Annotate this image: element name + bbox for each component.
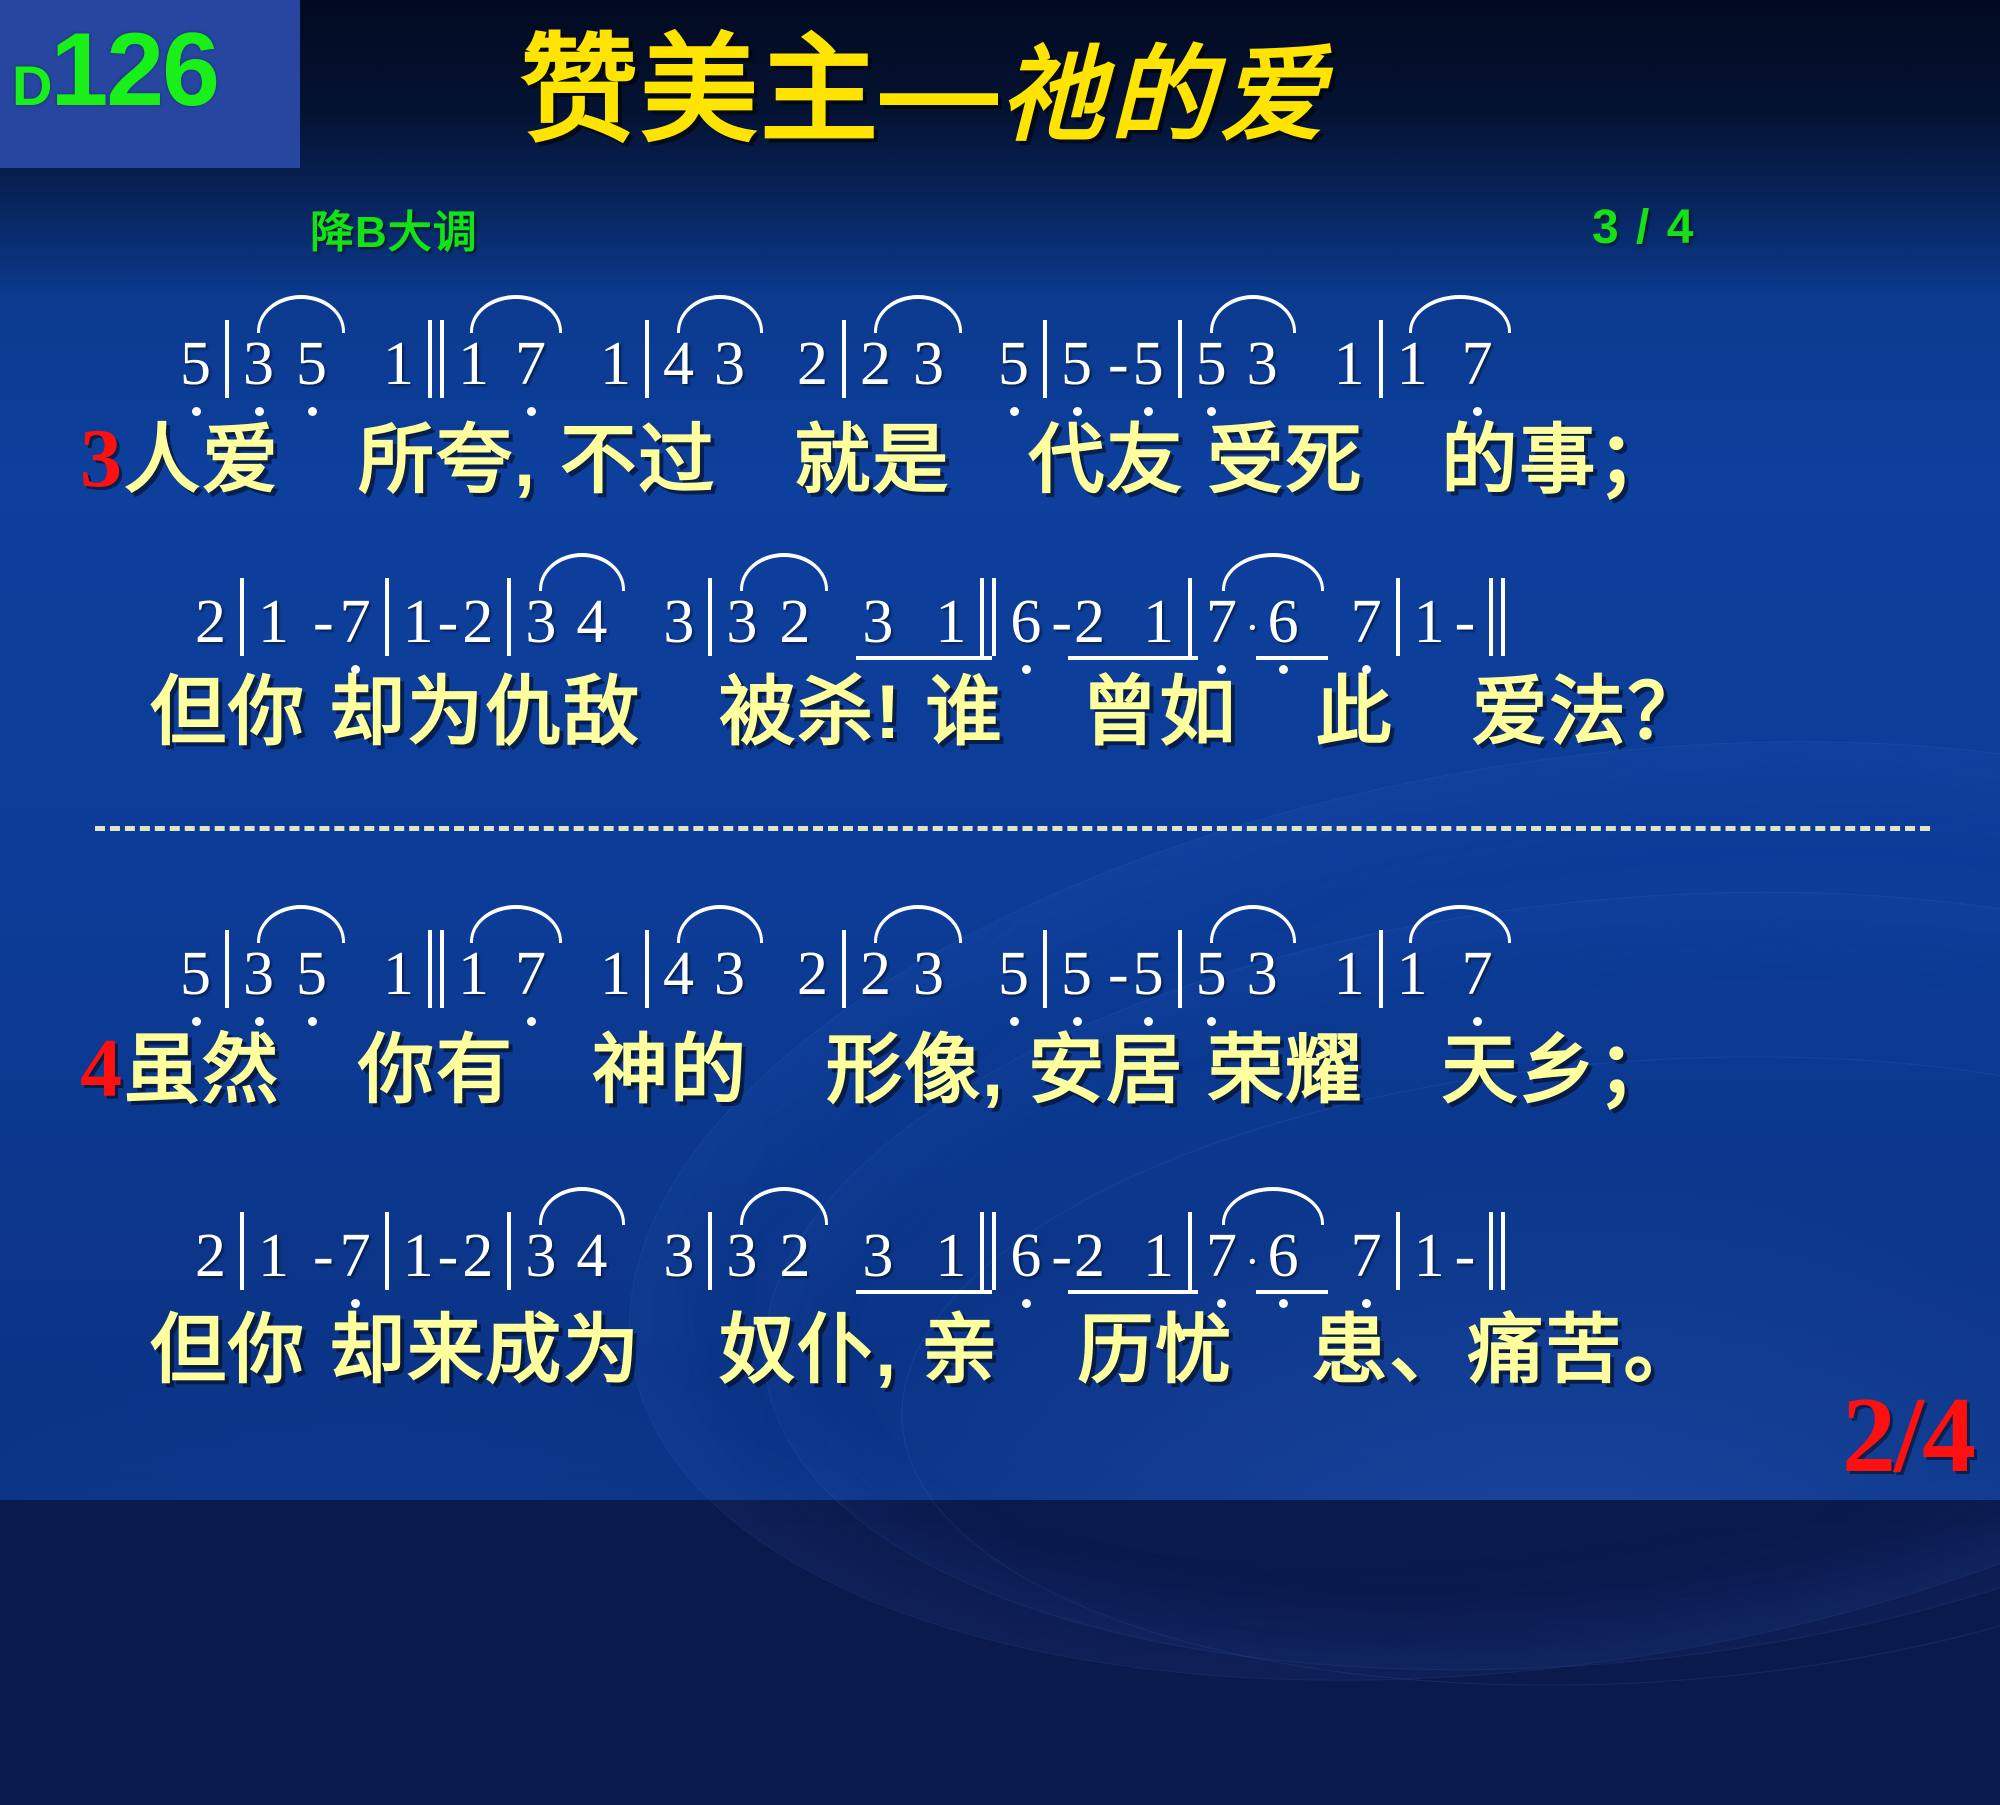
- note: 2: [797, 939, 828, 1010]
- note: 2: [797, 329, 828, 400]
- lyric-verse-4-line-1: 4虽然 你有 神的 形像, 安居 荣耀 天乡；: [80, 1008, 2000, 1118]
- note: 1: [1334, 329, 1365, 400]
- barline: [385, 1212, 389, 1290]
- hymn-number-badge: D126: [0, 0, 300, 168]
- note: 2: [462, 1221, 493, 1292]
- barline: [1188, 1212, 1192, 1290]
- note-beamed: 3: [862, 587, 893, 658]
- note: 3: [913, 329, 944, 400]
- lyric-verse-3-line-1: 3人爱 所夸, 不过 就是 代友 受死 的事；: [80, 398, 2000, 508]
- note: 3: [714, 939, 745, 1010]
- note: 3: [714, 329, 745, 400]
- hymn-number-text: D126: [12, 18, 218, 122]
- barline-double: [992, 1212, 996, 1290]
- barline-double: [440, 930, 444, 1008]
- staff-line-v3-a: 5 3 5 1 1 7 1 4 3 2 2 3 5 5 - 5 5 3 1: [0, 290, 2000, 400]
- barline: [1396, 578, 1400, 656]
- note: 1: [600, 939, 631, 1010]
- note-beamed: 1: [1143, 1221, 1174, 1292]
- note: 1: [258, 1221, 289, 1292]
- verse-number: 3: [80, 412, 124, 505]
- note: 1: [458, 329, 489, 400]
- lyric-verse-3-line-2: 但你 却为仇敌 被杀! 谁 曾如 此 爱法？: [150, 650, 2000, 760]
- note: 3: [243, 939, 274, 1010]
- note: 4: [576, 587, 607, 658]
- note-beamed: 1: [1143, 587, 1174, 658]
- note: 2: [462, 587, 493, 658]
- note: 1: [1397, 939, 1428, 1010]
- staff-line-v4-b: 2 1 - 7 1 - 2 3 4 3 3 2 3 1 6 - 2 1 7: [0, 1182, 2000, 1292]
- barline-double: [428, 930, 432, 1008]
- barline: [842, 320, 846, 398]
- note: 7: [1351, 1221, 1382, 1292]
- note: 6: [1010, 1221, 1041, 1292]
- note: 5: [998, 939, 1029, 1010]
- note: 3: [1247, 329, 1278, 400]
- barline: [240, 578, 244, 656]
- note: 6: [1010, 587, 1041, 658]
- barline: [1379, 930, 1383, 1008]
- note: 5: [296, 939, 327, 1010]
- note: 3: [663, 1221, 694, 1292]
- verse-number: 4: [80, 1022, 124, 1115]
- note-beamed: 1: [935, 587, 966, 658]
- note: 7: [340, 1221, 371, 1292]
- note: 2: [860, 939, 891, 1010]
- barline-final: [1501, 1212, 1505, 1290]
- barline-double: [440, 320, 444, 398]
- note: 2: [195, 1221, 226, 1292]
- key-signature-label: 降B大调: [310, 196, 478, 260]
- note: 7: [1462, 329, 1493, 400]
- staff-line-v3-b: 2 1 - 7 1 - 2 3 4 3 3 2 3 1 6 - 2 1 7: [0, 548, 2000, 658]
- note: 7: [515, 939, 546, 1010]
- note-beamed: 1: [935, 1221, 966, 1292]
- lyric-text: 虽然 你有 神的 形像, 安居 荣耀 天乡；: [124, 1028, 1675, 1113]
- note: 1: [1414, 587, 1445, 658]
- note-dash: -: [1108, 329, 1129, 400]
- barline: [385, 578, 389, 656]
- note-beamed: 3: [862, 1221, 893, 1292]
- note: 3: [525, 1221, 556, 1292]
- barline: [708, 578, 712, 656]
- note-dash: -: [313, 1221, 334, 1292]
- note: 3: [525, 587, 556, 658]
- note-dash: -: [1455, 1221, 1476, 1292]
- barline-final: [1501, 578, 1505, 656]
- note: 5: [998, 329, 1029, 400]
- note: 5: [1133, 939, 1164, 1010]
- note: 7: [515, 329, 546, 400]
- note: 2: [860, 329, 891, 400]
- note: 5: [180, 939, 211, 1010]
- note: 3: [913, 939, 944, 1010]
- note-beamed: 6: [1268, 1221, 1299, 1292]
- barline: [1396, 1212, 1400, 1290]
- note: 4: [663, 329, 694, 400]
- note: 5: [1061, 329, 1092, 400]
- note-dash: -: [438, 1221, 459, 1292]
- note-dash: -: [1051, 587, 1072, 658]
- barline: [1178, 320, 1182, 398]
- note: 1: [1414, 1221, 1445, 1292]
- note: 1: [458, 939, 489, 1010]
- barline: [225, 930, 229, 1008]
- note: 1: [383, 329, 414, 400]
- note: 1: [403, 1221, 434, 1292]
- note: 5: [1133, 329, 1164, 400]
- barline: [645, 320, 649, 398]
- note: 1: [403, 587, 434, 658]
- note-dash: -: [1455, 587, 1476, 658]
- note: 2: [195, 587, 226, 658]
- note: 4: [663, 939, 694, 1010]
- barline: [1188, 578, 1192, 656]
- note-dash: -: [1108, 939, 1129, 1010]
- note: 3: [1247, 939, 1278, 1010]
- time-signature-label: 3 / 4: [1592, 200, 1695, 255]
- barline-final: [1489, 1212, 1493, 1290]
- barline: [507, 1212, 511, 1290]
- verse-divider: [95, 826, 1930, 831]
- page-indicator: 2/4: [1842, 1374, 1974, 1498]
- note: 7: [1206, 1221, 1237, 1292]
- barline: [645, 930, 649, 1008]
- note-dash: -: [1051, 1221, 1072, 1292]
- note: 7: [1351, 587, 1382, 658]
- note-beamed: 6: [1268, 587, 1299, 658]
- note: 1: [1334, 939, 1365, 1010]
- note: 2: [779, 587, 810, 658]
- barline: [1178, 930, 1182, 1008]
- note: 1: [1397, 329, 1428, 400]
- note: 3: [726, 587, 757, 658]
- note: 5: [1061, 939, 1092, 1010]
- title-main: 赞美主—: [520, 25, 1000, 157]
- barline-double: [980, 578, 984, 656]
- staff-line-v4-a2: 5 3 5 1 1 7 1 4 3 2 2 3 5 5 - 5 5 3 1: [0, 900, 2000, 1010]
- barline-double: [428, 320, 432, 398]
- note-dash: -: [313, 587, 334, 658]
- barline: [225, 320, 229, 398]
- barline: [507, 578, 511, 656]
- hymn-number-prefix: D: [12, 54, 50, 117]
- note: 7: [1206, 587, 1237, 658]
- note: 5: [180, 329, 211, 400]
- barline: [1043, 930, 1047, 1008]
- lyric-text: 人爱 所夸, 不过 就是 代友 受死 的事；: [124, 418, 1675, 503]
- note: 3: [663, 587, 694, 658]
- note: 1: [258, 587, 289, 658]
- note: 1: [600, 329, 631, 400]
- barline: [842, 930, 846, 1008]
- note: 3: [726, 1221, 757, 1292]
- note: 1: [383, 939, 414, 1010]
- barline: [708, 1212, 712, 1290]
- note: 3: [243, 329, 274, 400]
- barline-double: [992, 578, 996, 656]
- title-subtitle: 祂的爱: [1000, 39, 1330, 154]
- note: 5: [296, 329, 327, 400]
- barline: [240, 1212, 244, 1290]
- note: 7: [340, 587, 371, 658]
- barline: [1379, 320, 1383, 398]
- dot-extension: ·: [1245, 587, 1260, 658]
- note-dash: -: [438, 587, 459, 658]
- barline: [1043, 320, 1047, 398]
- note: 5: [1196, 939, 1227, 1010]
- barline-final: [1489, 578, 1493, 656]
- note: 7: [1462, 939, 1493, 1010]
- lyric-verse-4-line-2: 但你 却来成为 奴仆, 亲 历忧 患、痛苦。: [150, 1288, 2000, 1398]
- note: 5: [1196, 329, 1227, 400]
- hymn-number-value: 126: [50, 12, 218, 128]
- note-beamed: 2: [1074, 1221, 1105, 1292]
- barline-double: [980, 1212, 984, 1290]
- note: 2: [779, 1221, 810, 1292]
- slide-title: 赞美主—祂的爱: [520, 32, 1330, 150]
- note-beamed: 2: [1074, 587, 1105, 658]
- note: 4: [576, 1221, 607, 1292]
- dot-extension: ·: [1245, 1221, 1260, 1292]
